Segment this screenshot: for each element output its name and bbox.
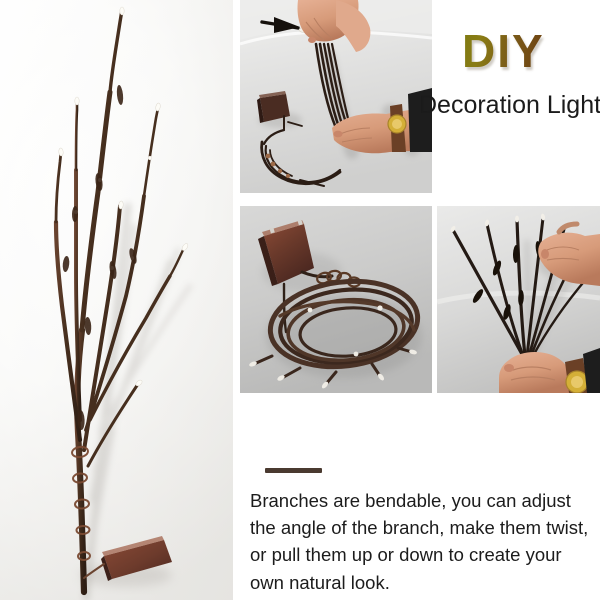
caption-text: Branches are bendable, you can adjust th…	[250, 487, 595, 596]
page-title-diy: DIY	[462, 28, 545, 74]
product-collage-page: DIY Decoration Light Branches are bendab…	[0, 0, 600, 600]
hero-branch-illustration	[0, 0, 233, 600]
hero-branch-shadows	[86, 206, 190, 598]
caption-divider-rule	[265, 468, 322, 473]
coiled-package-illustration	[240, 206, 432, 393]
page-subtitle: Decoration Light	[419, 92, 600, 120]
step-photo-pull-branches	[240, 0, 432, 193]
hero-product-photo	[0, 0, 233, 600]
pull-branches-illustration	[240, 0, 432, 193]
step-photo-fan-branches	[437, 206, 600, 393]
fan-branches-illustration	[437, 206, 600, 393]
step-photo-coiled-package	[240, 206, 432, 393]
